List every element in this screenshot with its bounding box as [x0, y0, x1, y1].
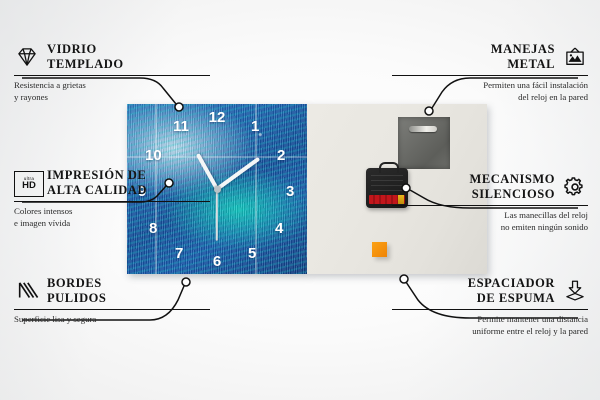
framed-picture-icon — [562, 45, 588, 69]
clock-center-cap — [214, 186, 221, 193]
callout-subtitle-line2: no emiten ningún sonido — [392, 222, 588, 234]
callout-title-line2: METAL — [491, 57, 555, 72]
callout-subtitle-line1: Las manecillas del reloj — [392, 210, 588, 222]
callout-header: ESPACIADOR DE ESPUMA — [392, 276, 588, 306]
callout-espaciador-espuma[interactable]: ESPACIADOR DE ESPUMA Permite mantener un… — [392, 276, 588, 337]
foam-spacer-arrow-icon — [562, 279, 588, 303]
clock-numeral-12: 12 — [209, 110, 226, 125]
callout-title-line2: PULIDOS — [47, 291, 106, 306]
callout-divider — [392, 309, 588, 311]
callout-subtitle-line2: y rayones — [14, 92, 210, 104]
callout-title-line1: BORDES — [47, 276, 106, 291]
callout-title-line2: SILENCIOSO — [469, 187, 555, 202]
callout-title-line2: TEMPLADO — [47, 57, 124, 72]
callout-subtitle-line1: Permiten una fácil instalación — [392, 80, 588, 92]
clock-numeral-1: 1 — [251, 119, 259, 134]
callout-divider — [392, 75, 588, 77]
callout-manejas-metal[interactable]: MANEJAS METAL Permiten una fácil instala… — [392, 42, 588, 103]
callout-vidrio-templado[interactable]: VIDRIO TEMPLADO Resistencia a grietas y … — [14, 42, 210, 103]
clock-numeral-5: 5 — [248, 246, 256, 261]
callout-header: VIDRIO TEMPLADO — [14, 42, 210, 72]
infographic-canvas: 12 1 2 3 4 5 6 7 8 9 10 11 — [0, 0, 600, 400]
hanger-plate — [398, 117, 450, 169]
clock-numeral-6: 6 — [213, 254, 221, 269]
clock-numeral-11: 11 — [173, 119, 189, 134]
callout-subtitle-line1: Colores intensos — [14, 206, 210, 218]
callout-title-line1: MANEJAS — [491, 42, 555, 57]
callout-title-line1: MECANISMO — [469, 172, 555, 187]
callout-divider — [14, 75, 210, 77]
callout-header: ultra HD IMPRESIÓN DE ALTA CALIDAD — [14, 168, 210, 198]
foam-spacer-pad — [372, 242, 387, 257]
callout-header: MANEJAS METAL — [392, 42, 588, 72]
ultra-hd-badge-icon: ultra HD — [14, 171, 40, 195]
callout-subtitle-line1: Permite mantener una distancia — [392, 314, 588, 326]
clock-numeral-2: 2 — [277, 148, 285, 163]
polished-edges-icon — [14, 279, 40, 303]
callout-title-line2: ALTA CALIDAD — [47, 183, 147, 198]
hd-badge-large-text: HD — [22, 181, 36, 191]
callout-bordes-pulidos[interactable]: BORDES PULIDOS Superficie lisa y segura — [14, 276, 210, 326]
clock-numeral-3: 3 — [286, 184, 294, 199]
callout-header: BORDES PULIDOS — [14, 276, 210, 306]
callout-subtitle-line2: uniforme entre el reloj y la pared — [392, 326, 588, 338]
callout-subtitle-line1: Superficie lisa y segura — [14, 314, 210, 326]
clock-numeral-7: 7 — [175, 246, 183, 261]
clock-numeral-4: 4 — [275, 221, 283, 236]
callout-divider — [14, 309, 210, 311]
clock-second-hand — [216, 189, 218, 241]
callout-subtitle-line2: del reloj en la pared — [392, 92, 588, 104]
callout-divider — [392, 205, 588, 207]
hanger-keyhole-slot — [409, 126, 437, 132]
callout-title-line1: ESPACIADOR — [468, 276, 555, 291]
gear-icon — [562, 175, 588, 199]
callout-title-line2: DE ESPUMA — [468, 291, 555, 306]
callout-subtitle-line1: Resistencia a grietas — [14, 80, 210, 92]
callout-title-line1: VIDRIO — [47, 42, 124, 57]
callout-impresion-alta-calidad[interactable]: ultra HD IMPRESIÓN DE ALTA CALIDAD Color… — [14, 168, 210, 229]
callout-divider — [14, 201, 210, 203]
clock-numeral-10: 10 — [145, 148, 162, 163]
callout-subtitle-line2: e imagen vívida — [14, 218, 210, 230]
callout-header: MECANISMO SILENCIOSO — [392, 172, 588, 202]
diamond-icon — [14, 45, 40, 69]
callout-mecanismo-silencioso[interactable]: MECANISMO SILENCIOSO Las manecillas del … — [392, 172, 588, 233]
callout-title-line1: IMPRESIÓN DE — [47, 168, 147, 183]
